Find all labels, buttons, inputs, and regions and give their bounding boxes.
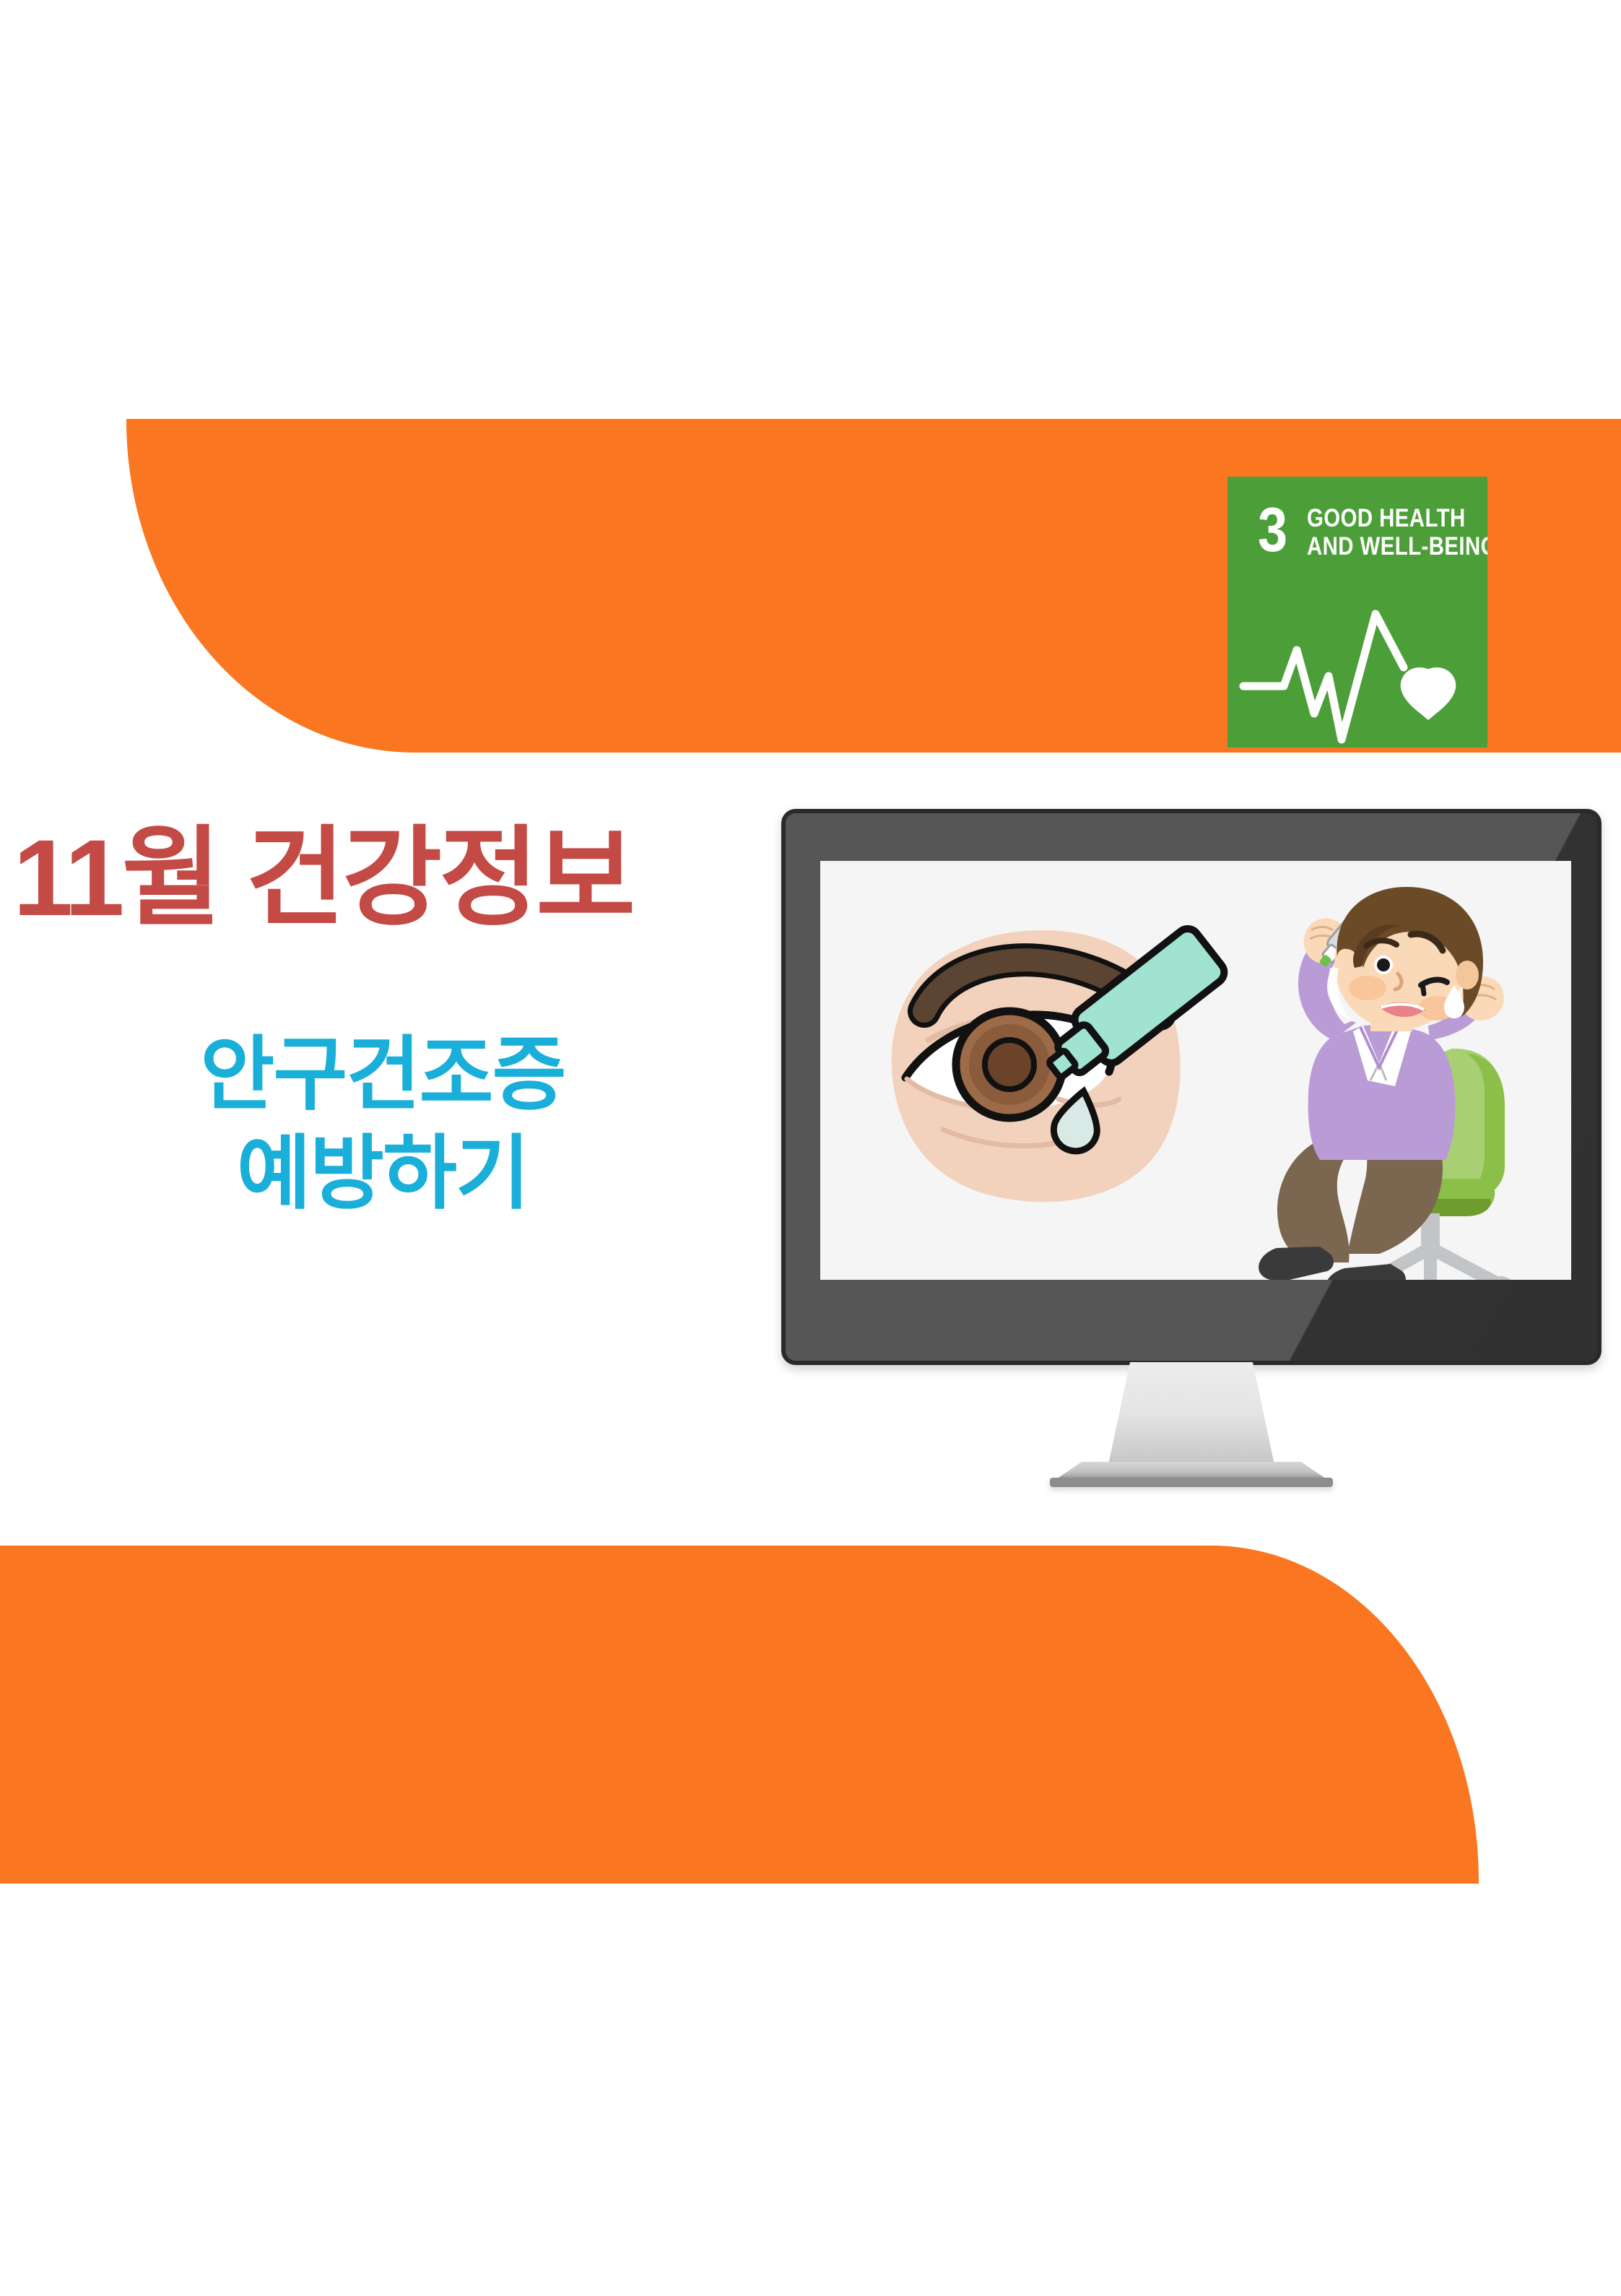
sdg-goal-title-line2: AND WELL-BEING	[1307, 532, 1487, 560]
sdg-goal-title: GOOD HEALTH AND WELL-BEING	[1307, 504, 1487, 560]
eye-with-eyedrops-illustration	[892, 924, 1229, 1203]
page-subtitle-line-1: 안구건조증	[0, 1026, 765, 1125]
monitor-graphic	[781, 809, 1602, 1365]
page-title-sub: 안구건조증 예방하기	[0, 1026, 765, 1223]
monitor-bezel	[781, 809, 1602, 1365]
sdg-goal-3-badge: 3 GOOD HEALTH AND WELL-BEING	[1227, 477, 1487, 748]
monitor-screen	[820, 861, 1571, 1280]
page-subtitle-line-2: 예방하기	[0, 1125, 765, 1223]
poster-canvas: 3 GOOD HEALTH AND WELL-BEING 11월 건강정보 안구…	[0, 0, 1621, 2296]
heartbeat-pulse-icon	[1227, 598, 1487, 748]
person-applying-eyedrops-illustration	[1259, 887, 1514, 1280]
page-title-main: 11월 건강정보	[13, 823, 757, 933]
monitor-stand-foot	[1050, 1478, 1333, 1487]
orange-band-bottom	[0, 1546, 1479, 1884]
sdg-badge-header: 3 GOOD HEALTH AND WELL-BEING	[1227, 504, 1487, 591]
screen-illustration-group	[820, 861, 1571, 1280]
sdg-goal-title-line1: GOOD HEALTH	[1307, 504, 1487, 532]
monitor-stand-neck	[1106, 1362, 1277, 1475]
sdg-goal-number: 3	[1258, 504, 1286, 557]
